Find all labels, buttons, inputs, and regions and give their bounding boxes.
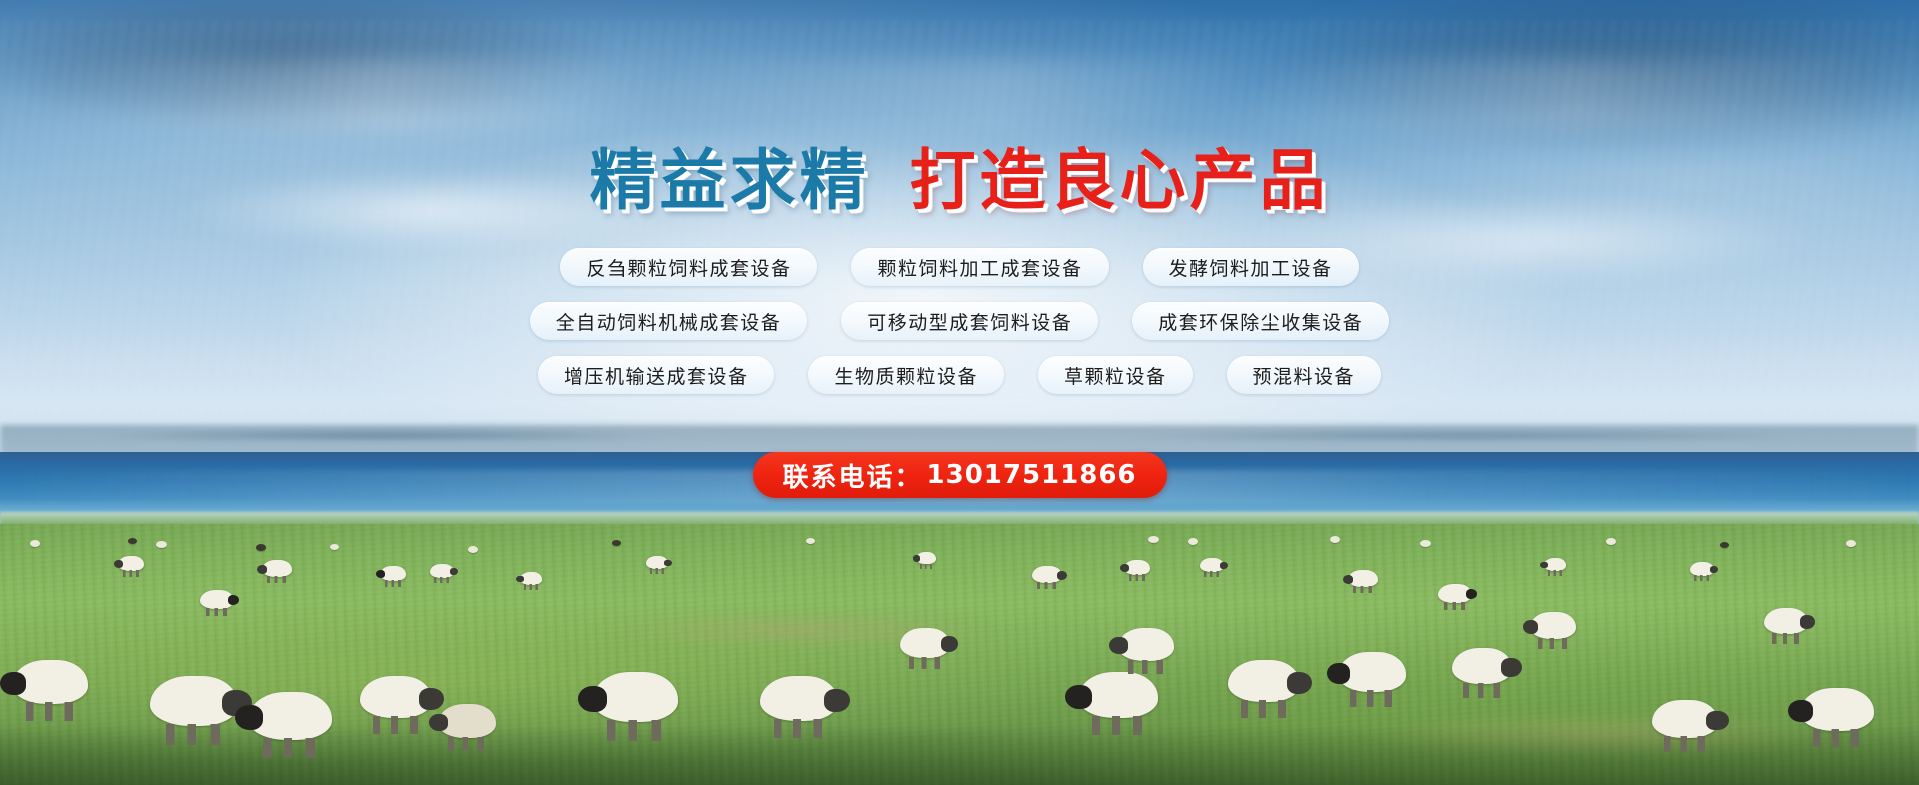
sheep	[1438, 584, 1472, 603]
sheep	[1118, 628, 1174, 661]
sheep	[760, 676, 838, 721]
sheep	[1452, 648, 1512, 684]
sheep-distant	[156, 541, 167, 548]
sheep	[430, 564, 454, 578]
category-pill[interactable]: 发酵饲料加工设备	[1143, 248, 1359, 286]
sheep	[248, 692, 332, 740]
sheep	[520, 572, 542, 585]
sheep	[1764, 608, 1808, 634]
headline-red: 打造良心产品	[910, 142, 1330, 219]
sheep-distant	[1188, 538, 1198, 545]
sheep-distant	[1148, 536, 1159, 543]
sheep	[1544, 558, 1566, 571]
category-pill[interactable]: 全自动饲料机械成套设备	[530, 302, 808, 340]
sheep	[200, 590, 234, 609]
sheep-distant	[330, 544, 339, 550]
sheep	[1338, 652, 1406, 692]
category-pill[interactable]: 可移动型成套饲料设备	[841, 302, 1098, 340]
sheep-distant	[30, 540, 40, 547]
sheep-distant	[1330, 536, 1340, 543]
sheep	[1800, 688, 1874, 731]
sheep-distant	[256, 544, 266, 551]
category-pill[interactable]: 生物质颗粒设备	[808, 356, 1004, 394]
sheep	[1032, 566, 1062, 583]
category-pill[interactable]: 草颗粒设备	[1038, 356, 1193, 394]
sheep-distant	[806, 538, 815, 544]
sheep	[1690, 562, 1714, 576]
sheep	[646, 556, 668, 569]
contact-label: 联系电话：	[782, 457, 922, 494]
sheep	[1348, 570, 1378, 587]
category-pill[interactable]: 预混料设备	[1227, 356, 1382, 394]
sheep	[1652, 700, 1718, 738]
category-pill[interactable]: 反刍颗粒饲料成套设备	[560, 248, 817, 286]
contact-phone-badge[interactable]: 联系电话：13017511866	[752, 452, 1166, 498]
sheep-distant	[1720, 542, 1729, 548]
sheep	[592, 672, 678, 722]
sheep	[118, 556, 144, 571]
sheep	[12, 660, 88, 704]
sheep	[380, 566, 406, 581]
sheep-distant	[1846, 540, 1856, 547]
sheep-distant	[1420, 540, 1431, 547]
sheep	[916, 552, 936, 564]
sheep	[1228, 660, 1300, 702]
sheep	[360, 676, 432, 718]
sheep	[150, 676, 238, 726]
category-pill[interactable]: 增压机输送成套设备	[538, 356, 775, 394]
sheep-distant	[1606, 538, 1616, 545]
category-row-1: 反刍颗粒饲料成套设备 颗粒饲料加工成套设备 发酵饲料加工设备	[0, 248, 1919, 286]
dirt-patch-left	[520, 600, 1080, 660]
sheep-distant	[128, 538, 137, 544]
sheep	[1124, 560, 1150, 575]
sheep	[1530, 612, 1576, 639]
category-pill[interactable]: 颗粒饲料加工成套设备	[851, 248, 1108, 286]
contact-number: 13017511866	[927, 460, 1137, 490]
category-row-2: 全自动饲料机械成套设备 可移动型成套饲料设备 成套环保除尘收集设备	[0, 302, 1919, 340]
sheep	[262, 560, 292, 577]
category-pill[interactable]: 成套环保除尘收集设备	[1132, 302, 1389, 340]
sheep	[438, 704, 496, 738]
category-pill-groups: 反刍颗粒饲料成套设备 颗粒饲料加工成套设备 发酵饲料加工设备 全自动饲料机械成套…	[0, 248, 1919, 410]
sheep	[1078, 672, 1158, 718]
category-row-3: 增压机输送成套设备 生物质颗粒设备 草颗粒设备 预混料设备	[0, 356, 1919, 394]
sheep	[1200, 558, 1224, 572]
sheep	[900, 628, 950, 658]
hero-banner: 精益求精打造良心产品 反刍颗粒饲料成套设备 颗粒饲料加工成套设备 发酵饲料加工设…	[0, 0, 1919, 785]
sheep-distant	[612, 540, 621, 546]
headline-blue: 精益求精	[590, 142, 870, 219]
sheep-distant	[468, 546, 478, 553]
page-title: 精益求精打造良心产品	[0, 148, 1919, 214]
